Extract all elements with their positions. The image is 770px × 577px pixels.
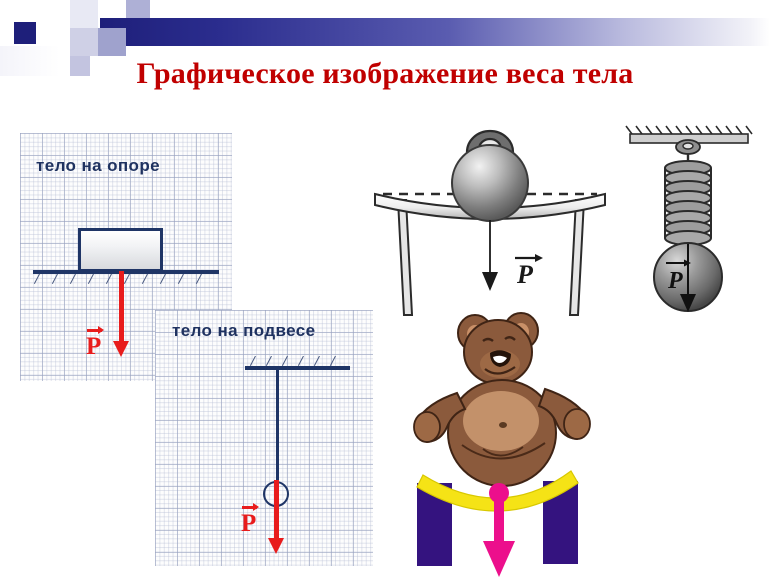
figure-ball-on-spring: P — [620, 120, 765, 320]
bear-illustration — [414, 313, 590, 486]
header-gradient-bar — [100, 18, 770, 46]
spring-coils — [665, 161, 711, 256]
header-square-accent — [14, 22, 36, 44]
header-square-deep — [98, 28, 126, 56]
arrow-shaft — [119, 271, 124, 345]
vector-arrow-icon — [87, 325, 104, 334]
suspension-thread — [276, 369, 279, 489]
support-ground-hatching — [33, 274, 219, 284]
table-force-label: P — [515, 254, 543, 289]
header-square-pale — [70, 0, 98, 28]
table-weight-arrow — [482, 220, 498, 291]
arrow-head — [268, 538, 284, 554]
support-force-label: P — [86, 334, 101, 359]
page-title: Графическое изображение веса тела — [0, 57, 770, 91]
suspension-ceiling-line — [245, 366, 350, 370]
panel-label-suspension: тело на подвесе — [172, 321, 316, 341]
svg-text:P: P — [667, 268, 683, 294]
header-square-mid — [70, 28, 98, 56]
metal-ball — [452, 145, 528, 221]
panel-label-support: тело на опоре — [36, 156, 160, 176]
vector-arrow-icon — [242, 502, 259, 511]
support-ground-line — [33, 270, 219, 274]
header-square-top — [126, 0, 150, 18]
support-body-block — [78, 228, 163, 272]
suspension-force-label: P — [241, 511, 256, 536]
panel-body-on-suspension — [155, 310, 373, 566]
suspension-ceiling-hatching — [245, 356, 350, 366]
figure-ball-on-table: P — [365, 128, 615, 318]
svg-text:P: P — [516, 260, 534, 289]
arrow-head — [113, 341, 129, 357]
figure-bear-on-board — [405, 305, 600, 577]
slide-canvas: Графическое изображение веса тела тело н… — [0, 0, 770, 577]
arrow-shaft — [274, 480, 279, 542]
